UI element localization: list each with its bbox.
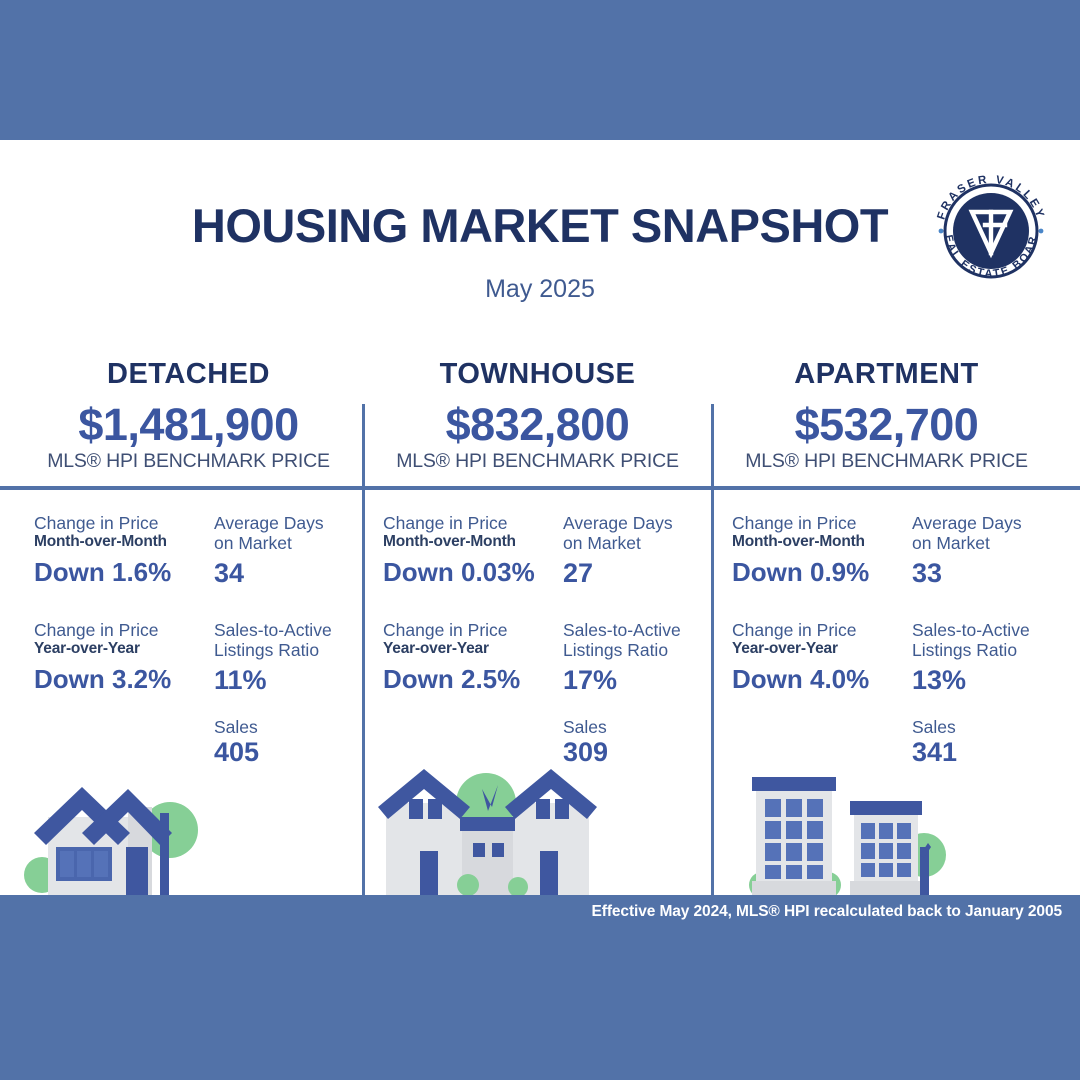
stat-value: 33 xyxy=(912,560,1072,587)
stat-sublabel: Year-over-Year xyxy=(34,640,204,659)
page-title: HOUSING MARKET SNAPSHOT xyxy=(0,198,1080,253)
stat-label-line1: Average Days xyxy=(563,513,723,533)
stat-value: Down 0.03% xyxy=(383,559,553,585)
stat-label: Change in Price xyxy=(732,620,902,640)
stat-label-line2: Listings Ratio xyxy=(912,640,1072,660)
stat-change-mom: Change in Price Month-over-Month Down 0.… xyxy=(732,513,902,585)
stat-change-yoy: Change in Price Year-over-Year Down 2.5% xyxy=(383,620,553,692)
stat-label-line1: Sales-to-Active xyxy=(214,620,374,640)
stat-value: 27 xyxy=(563,560,723,587)
stat-label-line1: Average Days xyxy=(214,513,374,533)
stat-label: Sales xyxy=(214,718,374,737)
page-subtitle: May 2025 xyxy=(0,275,1080,304)
stat-label: Sales xyxy=(563,718,723,737)
top-color-band xyxy=(0,0,1080,140)
stat-value: 405 xyxy=(214,738,374,766)
benchmark-price: $1,481,900 xyxy=(14,401,363,448)
stat-value: 13% xyxy=(912,667,1072,694)
column-header-apartment: APARTMENT $532,700 MLS® HPI BENCHMARK PR… xyxy=(712,360,1061,473)
stat-value: Down 4.0% xyxy=(732,666,902,692)
stat-sublabel: Month-over-Month xyxy=(383,533,553,552)
infographic-page: FRASER VALLEY REAL ESTATE BOARD HOUSING … xyxy=(0,0,1080,1080)
townhouse-row-icon xyxy=(370,755,605,895)
benchmark-price-label: MLS® HPI BENCHMARK PRICE xyxy=(712,450,1061,473)
stat-label-line1: Average Days xyxy=(912,513,1072,533)
horizontal-divider xyxy=(0,486,1080,490)
stat-label: Change in Price xyxy=(383,620,553,640)
stat-sublabel: Month-over-Month xyxy=(34,533,204,552)
stat-sublabel: Year-over-Year xyxy=(732,640,902,659)
stat-change-yoy: Change in Price Year-over-Year Down 3.2% xyxy=(34,620,204,692)
stat-label: Change in Price xyxy=(732,513,902,533)
stat-avg-days-on-market: Average Days on Market 27 xyxy=(563,513,723,587)
stat-value: Down 1.6% xyxy=(34,559,204,585)
stat-label: Sales xyxy=(912,718,1072,737)
benchmark-price-label: MLS® HPI BENCHMARK PRICE xyxy=(14,450,363,473)
stat-sales-to-active-ratio: Sales-to-Active Listings Ratio 17% xyxy=(563,620,723,694)
stat-label: Change in Price xyxy=(34,513,204,533)
stat-value: Down 2.5% xyxy=(383,666,553,692)
apartment-buildings-icon xyxy=(728,755,963,895)
stats-townhouse: Change in Price Month-over-Month Down 0.… xyxy=(363,513,712,783)
stat-value: 34 xyxy=(214,560,374,587)
bottom-color-band xyxy=(0,895,1080,1080)
stat-value: Down 0.9% xyxy=(732,559,902,585)
stat-label-line2: on Market xyxy=(912,533,1072,553)
property-type-label: TOWNHOUSE xyxy=(363,360,712,389)
stat-label: Change in Price xyxy=(34,620,204,640)
stat-label-line2: on Market xyxy=(214,533,374,553)
stat-value: 17% xyxy=(563,667,723,694)
stat-avg-days-on-market: Average Days on Market 34 xyxy=(214,513,374,587)
stats-detached: Change in Price Month-over-Month Down 1.… xyxy=(14,513,363,783)
stat-label-line2: Listings Ratio xyxy=(563,640,723,660)
stat-sublabel: Year-over-Year xyxy=(383,640,553,659)
stat-label-line2: Listings Ratio xyxy=(214,640,374,660)
stat-value: Down 3.2% xyxy=(34,666,204,692)
stat-label-line1: Sales-to-Active xyxy=(563,620,723,640)
benchmark-price-label: MLS® HPI BENCHMARK PRICE xyxy=(363,450,712,473)
stats-apartment: Change in Price Month-over-Month Down 0.… xyxy=(712,513,1061,783)
stat-sublabel: Month-over-Month xyxy=(732,533,902,552)
property-type-label: DETACHED xyxy=(14,360,363,389)
column-header-detached: DETACHED $1,481,900 MLS® HPI BENCHMARK P… xyxy=(14,360,363,473)
footer-note: Effective May 2024, MLS® HPI recalculate… xyxy=(0,903,1062,921)
stat-sales: Sales 405 xyxy=(214,718,374,767)
stat-avg-days-on-market: Average Days on Market 33 xyxy=(912,513,1072,587)
stat-label-line2: on Market xyxy=(563,533,723,553)
stat-label: Change in Price xyxy=(383,513,553,533)
stat-label-line1: Sales-to-Active xyxy=(912,620,1072,640)
benchmark-price: $532,700 xyxy=(712,401,1061,448)
stat-sales-to-active-ratio: Sales-to-Active Listings Ratio 13% xyxy=(912,620,1072,694)
stat-change-mom: Change in Price Month-over-Month Down 1.… xyxy=(34,513,204,585)
detached-house-icon xyxy=(20,755,220,895)
property-type-label: APARTMENT xyxy=(712,360,1061,389)
stat-value: 11% xyxy=(214,667,374,694)
stat-sales-to-active-ratio: Sales-to-Active Listings Ratio 11% xyxy=(214,620,374,694)
stat-change-yoy: Change in Price Year-over-Year Down 4.0% xyxy=(732,620,902,692)
benchmark-price: $832,800 xyxy=(363,401,712,448)
column-header-townhouse: TOWNHOUSE $832,800 MLS® HPI BENCHMARK PR… xyxy=(363,360,712,473)
stat-change-mom: Change in Price Month-over-Month Down 0.… xyxy=(383,513,553,585)
